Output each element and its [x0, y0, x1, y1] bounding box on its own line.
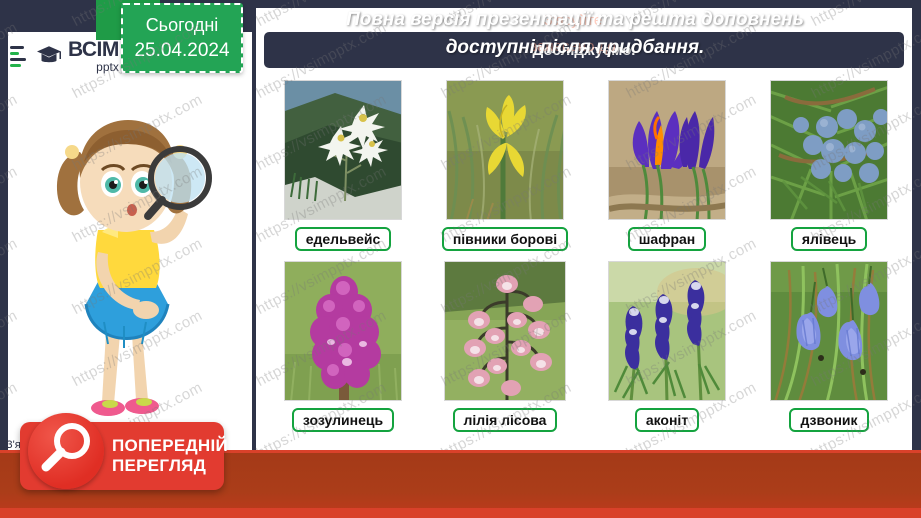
flora-label: півники борові [442, 227, 568, 251]
date-badge: Сьогодні 25.04.2024 [121, 3, 243, 73]
flora-cell[interactable]: аконіт [586, 261, 748, 432]
preview-line-2: ПЕРЕГЛЯД [112, 456, 228, 476]
martagon-lily-photo [444, 261, 566, 401]
logo-sub-text: pptx [68, 61, 119, 73]
flora-label: зозулинець [292, 408, 394, 432]
flora-label: едельвейс [295, 227, 392, 251]
flora-label: ялівець [791, 227, 867, 251]
flora-label: шафран [628, 227, 707, 251]
date-badge-date: 25.04.2024 [134, 40, 229, 62]
purchase-overlay-message: Повна версія презентації та решта доповн… [240, 6, 910, 62]
flora-row-2: зозулинець [262, 261, 910, 432]
date-badge-label: Сьогодні [146, 15, 219, 36]
juniper-berries-photo [770, 80, 888, 220]
orchid-photo [284, 261, 402, 401]
crocus-photo [608, 80, 726, 220]
logo-main-text: ВСІМ [68, 39, 119, 60]
bellflower-photo [770, 261, 888, 401]
flora-cell[interactable]: едельвейс [262, 80, 424, 251]
flora-row-1: едельвейс [262, 80, 910, 251]
flora-label: лілія лісова [453, 408, 558, 432]
flora-label: дзвоник [789, 408, 868, 432]
flora-cell[interactable]: ялівець [748, 80, 910, 251]
preview-badge[interactable]: ПОПЕРЕДНІЙ ПЕРЕГЛЯД [20, 422, 224, 490]
graduation-cap-icon [34, 41, 64, 71]
flora-cell[interactable]: півники борові [424, 80, 586, 251]
brand-logo[interactable]: ВСІМ pptx [10, 32, 120, 80]
flora-cell[interactable]: шафран [586, 80, 748, 251]
flora-grid: едельвейс [262, 80, 910, 432]
flora-cell[interactable]: зозулинець [262, 261, 424, 432]
edelweiss-photo [284, 80, 402, 220]
flora-cell[interactable]: дзвоник [748, 261, 910, 432]
magnifier-icon [28, 413, 104, 489]
flora-label: аконіт [635, 408, 699, 432]
overlay-line-2: доступні після придбання. [240, 34, 910, 62]
overlay-line-1: Повна версія презентації та решта доповн… [240, 6, 910, 34]
preview-badge-text: ПОПЕРЕДНІЙ ПЕРЕГЛЯД [112, 436, 228, 476]
aconite-photo [608, 261, 726, 401]
logo-dashes-icon [10, 46, 30, 67]
yellow-iris-photo [446, 80, 564, 220]
flora-cell[interactable]: лілія лісова [424, 261, 586, 432]
girl-with-magnifier-illustration [28, 82, 228, 432]
preview-line-1: ПОПЕРЕДНІЙ [112, 436, 228, 456]
